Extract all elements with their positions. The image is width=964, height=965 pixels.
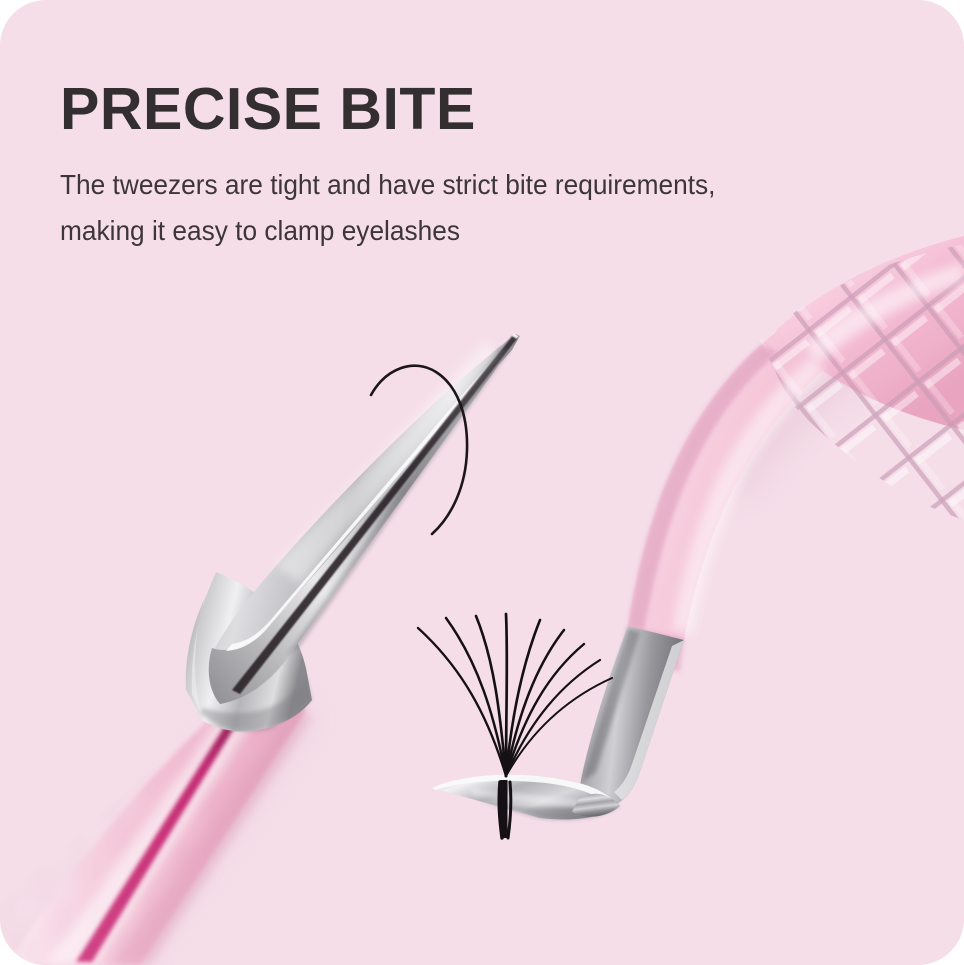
- feature-description: The tweezers are tight and have strict b…: [60, 140, 767, 254]
- feature-description-line-2: making it easy to clamp eyelashes: [60, 215, 460, 246]
- page-title: PRECISE BITE: [60, 78, 860, 140]
- feature-text-block: PRECISE BITE The tweezers are tight and …: [60, 78, 860, 254]
- precise-bite-feature-card: PRECISE BITE The tweezers are tight and …: [0, 0, 964, 965]
- feature-description-line-1: The tweezers are tight and have strict b…: [60, 169, 715, 200]
